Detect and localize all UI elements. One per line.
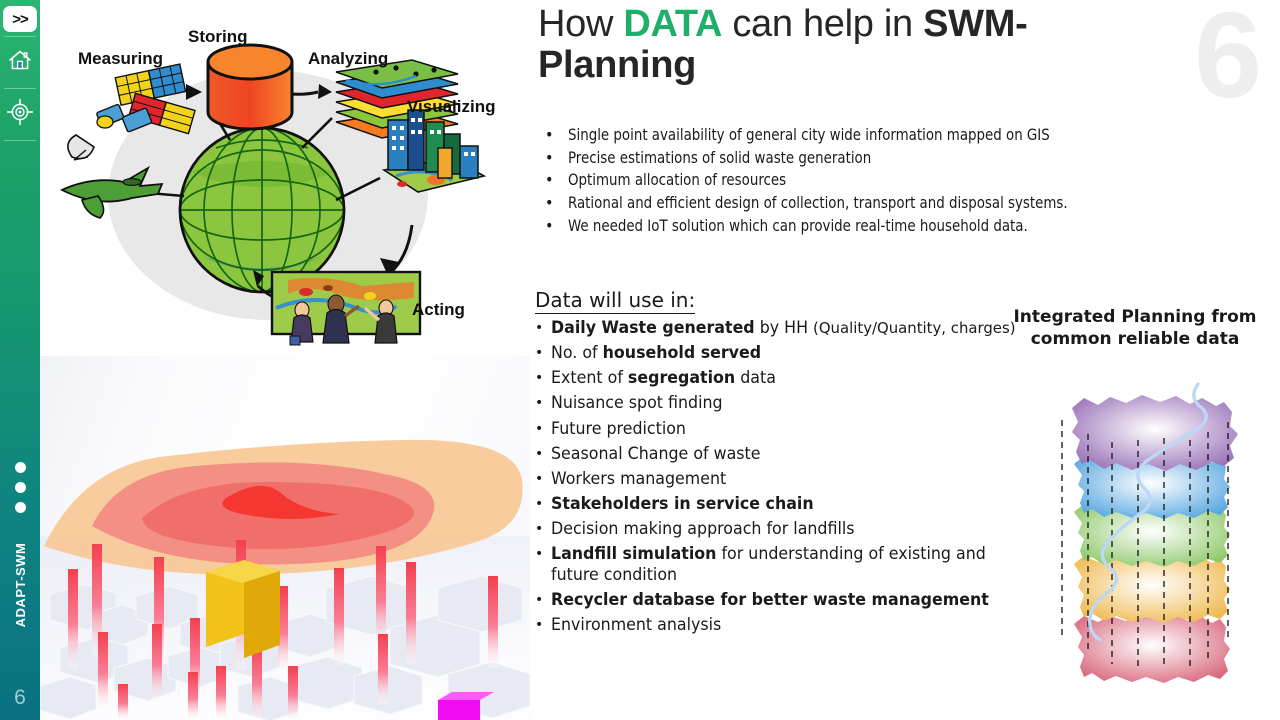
database-cylinder-icon bbox=[208, 45, 292, 129]
sidebar-divider-3 bbox=[4, 140, 36, 141]
brand-label: ADAPT-SWM bbox=[0, 525, 40, 645]
sidebar-progress-dots[interactable] bbox=[0, 462, 40, 513]
bullet-icon: • bbox=[535, 469, 551, 489]
list-item-label: Seasonal Change of waste bbox=[551, 444, 1016, 465]
list-item: • Single point availability of general c… bbox=[538, 124, 1268, 147]
list-item: • We needed IoT solution which can provi… bbox=[538, 215, 1268, 238]
label-measuring: Measuring bbox=[78, 49, 163, 68]
bullet-icon: • bbox=[535, 590, 551, 610]
list-item: • Landfill simulation for understanding … bbox=[535, 544, 1035, 585]
list-item-label: No. of household served bbox=[551, 343, 1016, 364]
title-highlight: DATA bbox=[623, 3, 722, 45]
key-benefits-list: • Single point availability of general c… bbox=[538, 124, 1268, 238]
sidebar-dot[interactable] bbox=[15, 502, 26, 513]
sidebar-item-locate[interactable] bbox=[0, 90, 40, 134]
list-item-label: Environment analysis bbox=[551, 615, 1016, 636]
list-item-label: Nuisance spot finding bbox=[551, 393, 1016, 414]
list-item: • Future prediction bbox=[535, 419, 1035, 440]
list-item: • Recycler database for better waste man… bbox=[535, 590, 1035, 611]
list-item-label: Stakeholders in service chain bbox=[551, 494, 1016, 515]
list-item: • Nuisance spot finding bbox=[535, 393, 1035, 414]
label-visualizing: Visualizing bbox=[407, 97, 496, 116]
caption-line-1: Integrated Planning from bbox=[1000, 307, 1270, 329]
label-storing: Storing bbox=[188, 27, 248, 46]
bullet-icon: • bbox=[535, 544, 551, 564]
list-item: • Optimum allocation of resources bbox=[538, 169, 1268, 192]
bullet-icon: • bbox=[535, 368, 551, 388]
city-heatmap-visualization bbox=[40, 356, 530, 720]
layer-stack-caption: Integrated Planning from common reliable… bbox=[1000, 307, 1270, 351]
slide-number-watermark: 6 bbox=[1194, 0, 1262, 116]
list-item: • Rational and efficient design of colle… bbox=[538, 192, 1268, 215]
sidebar-divider-2 bbox=[4, 88, 36, 89]
city-heatmap-illustration bbox=[40, 356, 530, 720]
list-item-label: Rational and efficient design of collect… bbox=[568, 192, 1219, 215]
bullet-icon: • bbox=[538, 147, 568, 170]
layer-purple bbox=[1072, 395, 1238, 471]
bullet-icon: • bbox=[538, 215, 568, 238]
layer-red bbox=[1074, 614, 1230, 683]
title-part2: can help in bbox=[722, 3, 923, 45]
list-item-label: Extent of segregation data bbox=[551, 368, 1016, 389]
list-item: • Workers management bbox=[535, 469, 1035, 490]
bullet-icon: • bbox=[535, 494, 551, 514]
sidebar-slide-number: 6 bbox=[0, 686, 40, 710]
list-item: • Decision making approach for landfills bbox=[535, 519, 1035, 540]
home-icon bbox=[7, 48, 33, 72]
caption-line-2: common reliable data bbox=[1000, 329, 1270, 351]
sidebar-dot[interactable] bbox=[15, 482, 26, 493]
bullet-icon: • bbox=[535, 444, 551, 464]
sidebar-dot[interactable] bbox=[15, 462, 26, 473]
gis-cycle-diagram: Measuring Storing Analyzing Visualizing … bbox=[40, 0, 530, 356]
list-item-label: Recycler database for better waste manag… bbox=[551, 590, 1016, 611]
list-item-label: Decision making approach for landfills bbox=[551, 519, 1016, 540]
list-item-label: Landfill simulation for understanding of… bbox=[551, 544, 1016, 585]
bullet-icon: • bbox=[535, 318, 551, 338]
expand-sidebar-button[interactable]: >> bbox=[3, 6, 37, 32]
sidebar-item-home[interactable] bbox=[0, 38, 40, 82]
data-use-heading: Data will use in: bbox=[535, 288, 695, 314]
label-acting: Acting bbox=[412, 300, 465, 319]
list-item: • Extent of segregation data bbox=[535, 368, 1035, 389]
globe-icon bbox=[180, 128, 344, 292]
list-item: • Precise estimations of solid waste gen… bbox=[538, 147, 1268, 170]
list-item: • Stakeholders in service chain bbox=[535, 494, 1035, 515]
page-title: How DATA can help in SWM-Planning bbox=[538, 4, 1158, 86]
sidebar-divider-1 bbox=[4, 36, 36, 37]
city-buildings-icon bbox=[384, 110, 484, 192]
bullet-icon: • bbox=[538, 124, 568, 147]
list-item-label: Future prediction bbox=[551, 419, 1016, 440]
bullet-icon: • bbox=[535, 615, 551, 635]
bullet-icon: • bbox=[535, 343, 551, 363]
gis-layer-stack bbox=[1050, 378, 1250, 708]
list-item: • Environment analysis bbox=[535, 615, 1035, 636]
layer-orange bbox=[1074, 554, 1230, 623]
bullet-icon: • bbox=[535, 419, 551, 439]
bullet-icon: • bbox=[538, 192, 568, 215]
data-use-list: • Daily Waste generated by HH (Quality/Q… bbox=[535, 318, 1035, 640]
list-item: • Seasonal Change of waste bbox=[535, 444, 1035, 465]
list-item-label: Optimum allocation of resources bbox=[568, 169, 1219, 192]
list-item-label: Precise estimations of solid waste gener… bbox=[568, 147, 1219, 170]
list-item: • No. of household served bbox=[535, 343, 1035, 364]
title-part1: How bbox=[538, 3, 623, 45]
list-item-label: Daily Waste generated by HH (Quality/Qua… bbox=[551, 318, 1016, 339]
sidebar: >> ADAPT-SWM 6 bbox=[0, 0, 40, 720]
layer-stack-illustration bbox=[1050, 378, 1250, 708]
chevron-double-right-icon: >> bbox=[12, 11, 28, 28]
bullet-icon: • bbox=[538, 169, 568, 192]
bullet-icon: • bbox=[535, 519, 551, 539]
label-analyzing: Analyzing bbox=[308, 49, 388, 68]
bullet-icon: • bbox=[535, 393, 551, 413]
presentation-icon bbox=[272, 272, 420, 345]
list-item: • Daily Waste generated by HH (Quality/Q… bbox=[535, 318, 1035, 339]
list-item-label: We needed IoT solution which can provide… bbox=[568, 215, 1219, 238]
list-item-label: Single point availability of general cit… bbox=[568, 124, 1219, 147]
target-icon bbox=[6, 98, 34, 126]
gis-cycle-illustration: Measuring Storing Analyzing Visualizing … bbox=[40, 0, 530, 356]
list-item-label: Workers management bbox=[551, 469, 1016, 490]
